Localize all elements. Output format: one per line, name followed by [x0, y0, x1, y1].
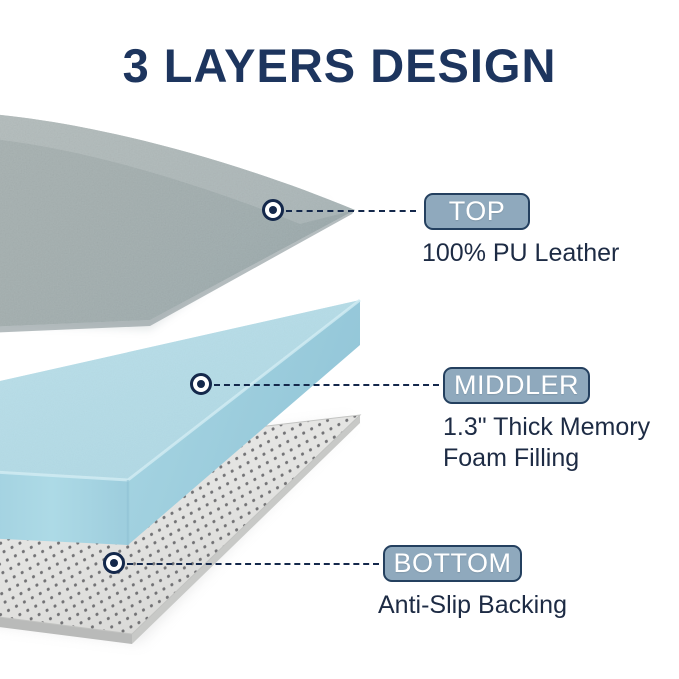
- bottom-layer-callout-marker: [103, 552, 125, 574]
- middle-layer-callout-marker: [190, 373, 212, 395]
- top-layer-pu-leather: [0, 112, 355, 334]
- top-layer-caption: 100% PU Leather: [422, 238, 662, 269]
- top-layer-leader-line: [286, 210, 416, 212]
- middle-layer-caption: 1.3" Thick Memory Foam Filling: [443, 412, 673, 474]
- bottom-layer-leader-line: [127, 563, 379, 565]
- middle-layer-leader-line: [214, 384, 439, 386]
- three-layers-design-infographic: 3 LAYERS DESIGN: [0, 0, 679, 679]
- bottom-layer-caption: Anti-Slip Backing: [378, 590, 628, 621]
- top-layer-callout-marker: [262, 199, 284, 221]
- exploded-layer-illustration: [0, 0, 679, 679]
- bottom-layer-badge: BOTTOM: [383, 545, 522, 582]
- middle-layer-badge: MIDDLER: [443, 367, 590, 404]
- top-layer-badge: TOP: [424, 193, 530, 230]
